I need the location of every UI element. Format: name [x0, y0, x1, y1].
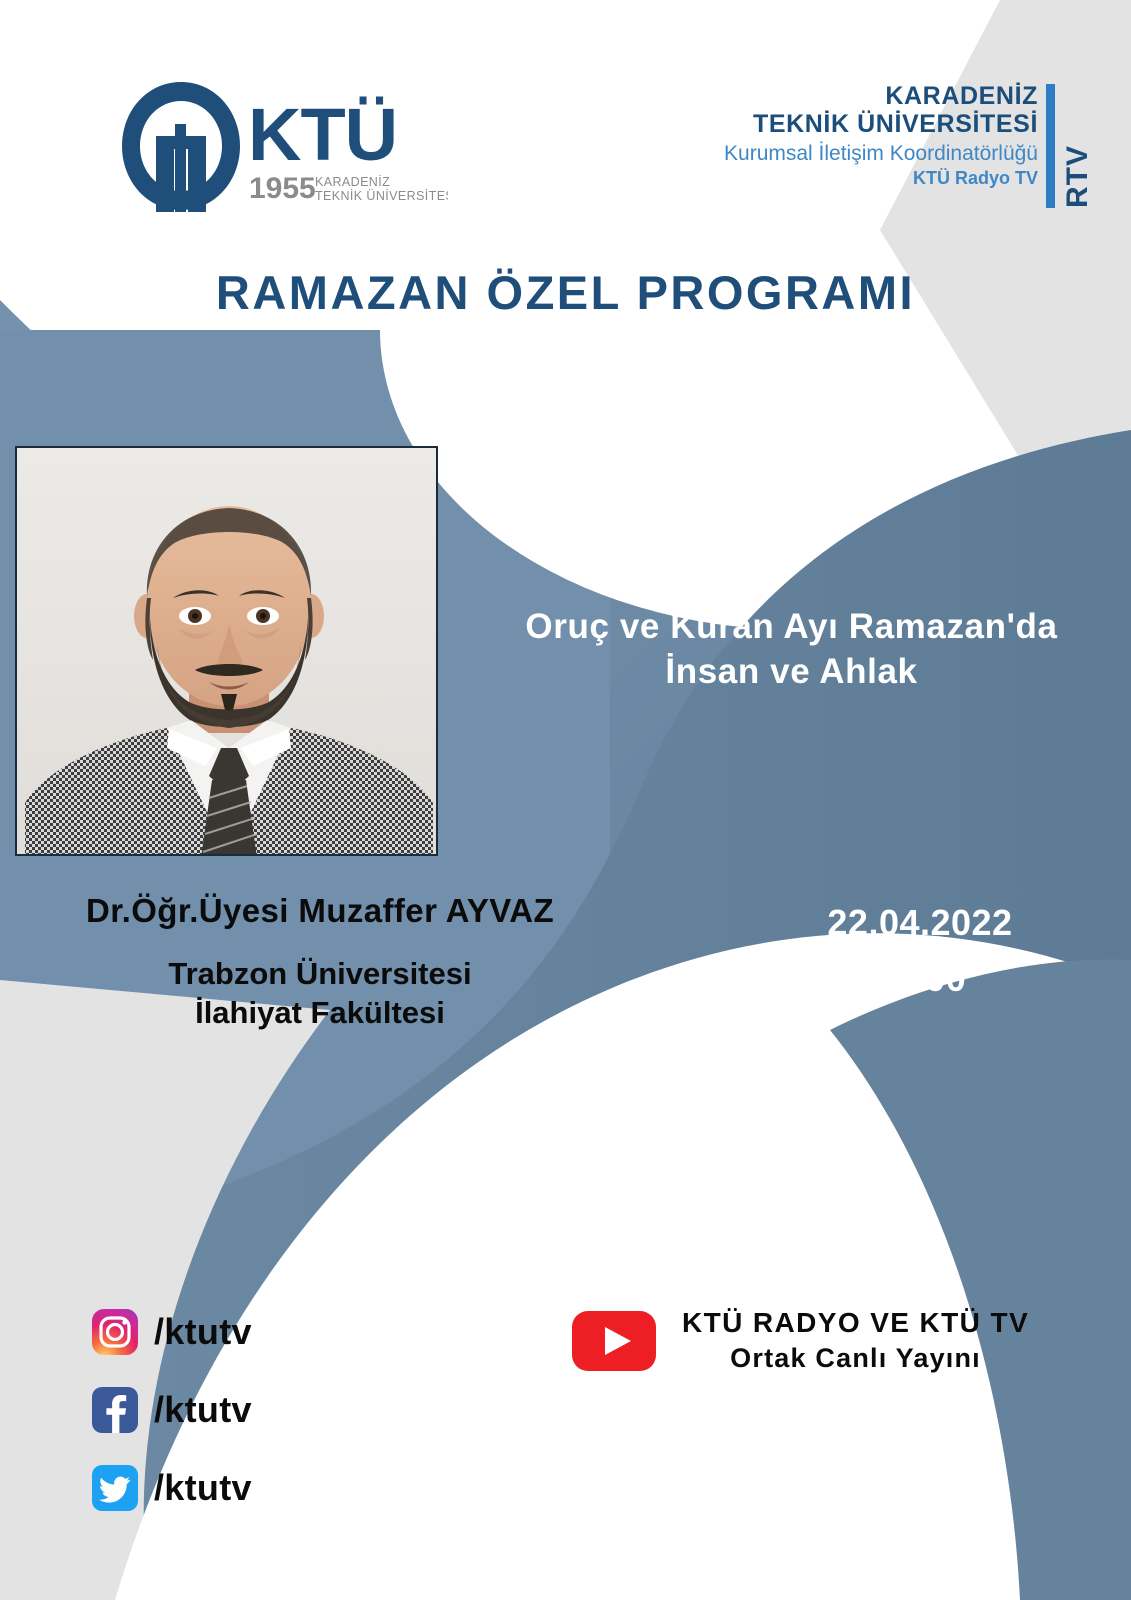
event-datetime: 22.04.2022 14.00 [760, 895, 1080, 1007]
logo-right-line3: Kurumsal İletişim Koordinatörlüğü [724, 140, 1038, 167]
event-time: 14.00 [760, 951, 1080, 1007]
instagram-icon[interactable] [92, 1309, 138, 1355]
twitter-handle[interactable]: /ktutv [154, 1467, 252, 1509]
speaker-affiliation-line-1: Trabzon Üniversitesi [20, 955, 620, 994]
broadcast-line-2: Ortak Canlı Yayını [682, 1343, 1029, 1374]
topic-line-2: İnsan ve Ahlak [452, 650, 1131, 695]
vertical-divider-bar [1046, 84, 1055, 208]
broadcast-line-1: KTÜ RADYO VE KTÜ TV [682, 1307, 1029, 1339]
speaker-affiliation: Trabzon Üniversitesi İlahiyat Fakültesi [20, 955, 620, 1033]
speaker-portrait-graphic [17, 448, 438, 856]
social-row-facebook[interactable]: /ktutv [92, 1378, 252, 1442]
ktu-radio-tv-logo: KARADENİZ TEKNİK ÜNİVERSİTESİ Kurumsal İ… [724, 82, 1093, 208]
speaker-photo [15, 446, 438, 856]
ktu-logo-left: KTÜ 1955 KARADENİZ TEKNİK ÜNİVERSİTESİ [118, 78, 448, 213]
logo-right-line4: KTÜ Radyo TV [724, 167, 1038, 190]
svg-text:KARADENİZ: KARADENİZ [315, 175, 390, 189]
rtv-vertical-label: RTV [1063, 122, 1093, 208]
facebook-icon[interactable] [92, 1387, 138, 1433]
social-links: /ktutv /ktutv /ktutv [92, 1300, 252, 1534]
social-row-twitter[interactable]: /ktutv [92, 1456, 252, 1520]
logo-right-line2: TEKNİK ÜNİVERSİTESİ [724, 110, 1038, 138]
social-row-instagram[interactable]: /ktutv [92, 1300, 252, 1364]
event-date: 22.04.2022 [760, 895, 1080, 951]
broadcast-text: KTÜ RADYO VE KTÜ TV Ortak Canlı Yayını [682, 1307, 1029, 1374]
speaker-affiliation-line-2: İlahiyat Fakültesi [20, 994, 620, 1033]
svg-text:TEKNİK ÜNİVERSİTESİ: TEKNİK ÜNİVERSİTESİ [315, 189, 448, 203]
poster-canvas: KTÜ 1955 KARADENİZ TEKNİK ÜNİVERSİTESİ K… [0, 0, 1131, 1600]
logo-right-textblock: KARADENİZ TEKNİK ÜNİVERSİTESİ Kurumsal İ… [724, 82, 1046, 208]
youtube-icon[interactable] [572, 1311, 656, 1371]
instagram-handle[interactable]: /ktutv [154, 1311, 252, 1353]
svg-text:KTÜ: KTÜ [248, 93, 397, 176]
broadcast-info[interactable]: KTÜ RADYO VE KTÜ TV Ortak Canlı Yayını [572, 1307, 1029, 1374]
speaker-name: Dr.Öğr.Üyesi Muzaffer AYVAZ [0, 892, 640, 930]
facebook-handle[interactable]: /ktutv [154, 1389, 252, 1431]
topic-line-1: Oruç ve Kuran Ayı Ramazan'da [452, 605, 1131, 650]
page-title: RAMAZAN ÖZEL PROGRAMI [0, 265, 1131, 320]
program-topic: Oruç ve Kuran Ayı Ramazan'da İnsan ve Ah… [452, 605, 1131, 695]
svg-text:1955: 1955 [249, 172, 316, 205]
logo-right-line1: KARADENİZ [724, 82, 1038, 110]
ktu-emblem-icon: KTÜ 1955 KARADENİZ TEKNİK ÜNİVERSİTESİ [118, 78, 448, 213]
twitter-icon[interactable] [92, 1465, 138, 1511]
